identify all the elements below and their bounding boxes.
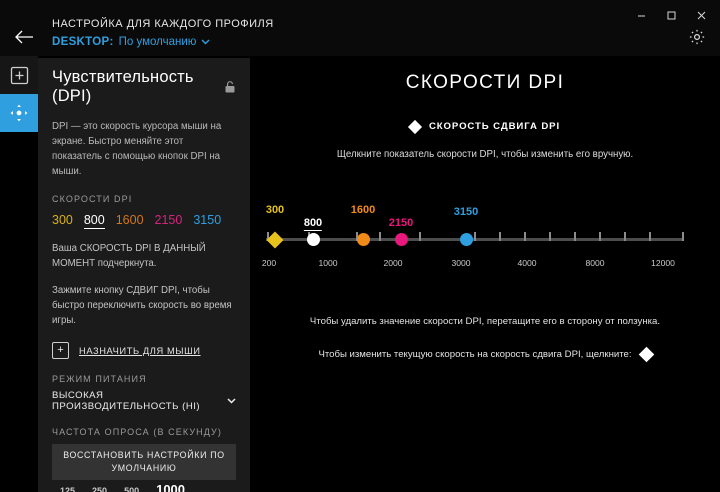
- diamond-icon: [408, 119, 422, 133]
- gear-icon[interactable]: [686, 26, 708, 48]
- dpi-marker-label-800[interactable]: 800: [304, 217, 322, 231]
- slider-tick: [574, 232, 576, 241]
- polling-rate-1000[interactable]: 1000: [156, 482, 185, 492]
- stage-title: СКОРОСТИ DPI: [250, 72, 720, 94]
- add-profile-icon[interactable]: [0, 56, 38, 94]
- slider-tick: [549, 232, 551, 241]
- dpi-marker-label-3150[interactable]: 3150: [454, 206, 478, 218]
- polling-rate-125[interactable]: 125: [60, 486, 75, 492]
- power-mode-select[interactable]: ВЫСОКАЯ ПРОИЗВОДИТЕЛЬНОСТЬ (HI): [52, 390, 236, 412]
- polling-rate-500[interactable]: 500: [124, 486, 139, 492]
- assign-to-mouse-button[interactable]: + НАЗНАЧИТЬ ДЛЯ МЫШИ: [52, 342, 236, 359]
- panel-title-row: Чувствительность (DPI): [52, 68, 236, 106]
- polling-rate-500-value: 500: [124, 486, 139, 492]
- slider-tick: [474, 232, 476, 241]
- dpi-marker-label-1600[interactable]: 1600: [351, 204, 375, 216]
- minimize-icon[interactable]: [626, 4, 656, 26]
- sidebar-item-sensitivity[interactable]: [0, 94, 38, 132]
- reset-defaults-button[interactable]: ВОССТАНОВИТЬ НАСТРОЙКИ ПО УМОЛЧАНИЮ: [52, 444, 236, 480]
- dpi-marker-label-300[interactable]: 300: [266, 204, 284, 216]
- dpi-value-300[interactable]: 300: [52, 213, 73, 227]
- close-icon[interactable]: [686, 4, 716, 26]
- dpi-value-3150[interactable]: 3150: [193, 213, 221, 227]
- profile-selector[interactable]: DESKTOP: По умолчанию: [52, 36, 274, 48]
- slider-tick: [649, 232, 651, 241]
- dpi-marker-3150[interactable]: [460, 233, 473, 246]
- dpi-marker-800[interactable]: [307, 233, 320, 246]
- maximize-icon[interactable]: [656, 4, 686, 26]
- slider-tick: [499, 232, 501, 241]
- dpi-stage: СКОРОСТИ DPI СКОРОСТЬ СДВИГА DPI Щелкнит…: [250, 56, 720, 492]
- dpi-value-2150[interactable]: 2150: [155, 213, 183, 227]
- axis-tick-label: 12000: [651, 258, 675, 268]
- axis-tick-label: 2000: [383, 258, 402, 268]
- hint-remove-value: Чтобы удалить значение скорости DPI, пер…: [250, 316, 720, 327]
- shift-dpi-legend: СКОРОСТЬ СДВИГА DPI: [250, 121, 720, 132]
- slider-tick: [379, 232, 381, 241]
- panel-title: Чувствительность (DPI): [52, 68, 221, 106]
- title-bar: НАСТРОЙКА ДЛЯ КАЖДОГО ПРОФИЛЯ DESKTOP: П…: [0, 0, 720, 56]
- header-text-block: НАСТРОЙКА ДЛЯ КАЖДОГО ПРОФИЛЯ DESKTOP: П…: [52, 18, 274, 48]
- hint-click-indicator: Щелкните показатель скорости DPI, чтобы …: [250, 149, 720, 160]
- profile-name: DESKTOP:: [52, 36, 114, 48]
- axis-tick-label: 8000: [585, 258, 604, 268]
- app-window: НАСТРОЙКА ДЛЯ КАЖДОГО ПРОФИЛЯ DESKTOP: П…: [0, 0, 720, 492]
- page-title: НАСТРОЙКА ДЛЯ КАЖДОГО ПРОФИЛЯ: [52, 18, 274, 30]
- slider-tick: [624, 232, 626, 241]
- assign-to-mouse-label: НАЗНАЧИТЬ ДЛЯ МЫШИ: [79, 346, 201, 356]
- note-shift-dpi: Зажмите кнопку СДВИГ DPI, чтобы быстро п…: [52, 283, 236, 328]
- slider-tick: [599, 232, 601, 241]
- polling-rate-label: ЧАСТОТА ОПРОСА (В СЕКУНДУ): [52, 427, 236, 437]
- lock-icon[interactable]: [224, 80, 236, 94]
- hint-set-shift-dpi: Чтобы изменить текущую скорость на скоро…: [250, 349, 720, 360]
- power-mode-value: ВЫСОКАЯ ПРОИЗВОДИТЕЛЬНОСТЬ (HI): [52, 390, 220, 412]
- axis-tick-label: 200: [262, 258, 276, 268]
- axis-tick-label: 1000: [318, 258, 337, 268]
- diamond-icon[interactable]: [638, 347, 654, 363]
- chevron-down-icon: [201, 36, 210, 48]
- axis-tick-label: 4000: [517, 258, 536, 268]
- polling-rate-250[interactable]: 250: [92, 486, 107, 492]
- dpi-marker-1600[interactable]: [357, 233, 370, 246]
- hint-set-shift-dpi-text: Чтобы изменить текущую скорость на скоро…: [318, 349, 631, 360]
- dpi-section-label: СКОРОСТИ DPI: [52, 194, 236, 204]
- dpi-marker-300[interactable]: [267, 231, 284, 248]
- axis-tick-label: 3000: [451, 258, 470, 268]
- settings-panel: Чувствительность (DPI) DPI — это скорост…: [38, 58, 250, 492]
- dpi-value-1600[interactable]: 1600: [116, 213, 144, 227]
- shift-dpi-label: СКОРОСТЬ СДВИГА DPI: [429, 121, 560, 132]
- icon-rail: [0, 56, 38, 492]
- panel-description: DPI — это скорость курсора мыши на экран…: [52, 119, 236, 179]
- dpi-marker-label-2150[interactable]: 2150: [389, 217, 413, 229]
- note-current-dpi: Ваша СКОРОСТЬ DPI В ДАННЫЙ МОМЕНТ подчер…: [52, 241, 236, 271]
- polling-rate-125-value: 125: [60, 486, 75, 492]
- dpi-value-800[interactable]: 800: [84, 213, 105, 229]
- polling-rate-options: 125 250 500 1000: [52, 482, 236, 492]
- dpi-values-list: 300 800 1600 2150 3150: [52, 213, 236, 229]
- polling-rate-250-value: 250: [92, 486, 107, 492]
- polling-rate-1000-value: 1000: [156, 482, 185, 492]
- slider-tick: [682, 232, 684, 241]
- dpi-marker-2150[interactable]: [395, 233, 408, 246]
- plus-icon: +: [52, 342, 69, 359]
- slider-tick: [524, 232, 526, 241]
- back-arrow-icon[interactable]: [10, 26, 38, 48]
- slider-tick: [419, 232, 421, 241]
- power-mode-label: РЕЖИМ ПИТАНИЯ: [52, 374, 236, 384]
- chevron-down-icon: [227, 396, 236, 407]
- dpi-slider[interactable]: 300 800 1600 2150 3150 200 1000 2000 300…: [250, 202, 720, 292]
- window-controls: [626, 4, 716, 26]
- profile-value: По умолчанию: [119, 36, 197, 48]
